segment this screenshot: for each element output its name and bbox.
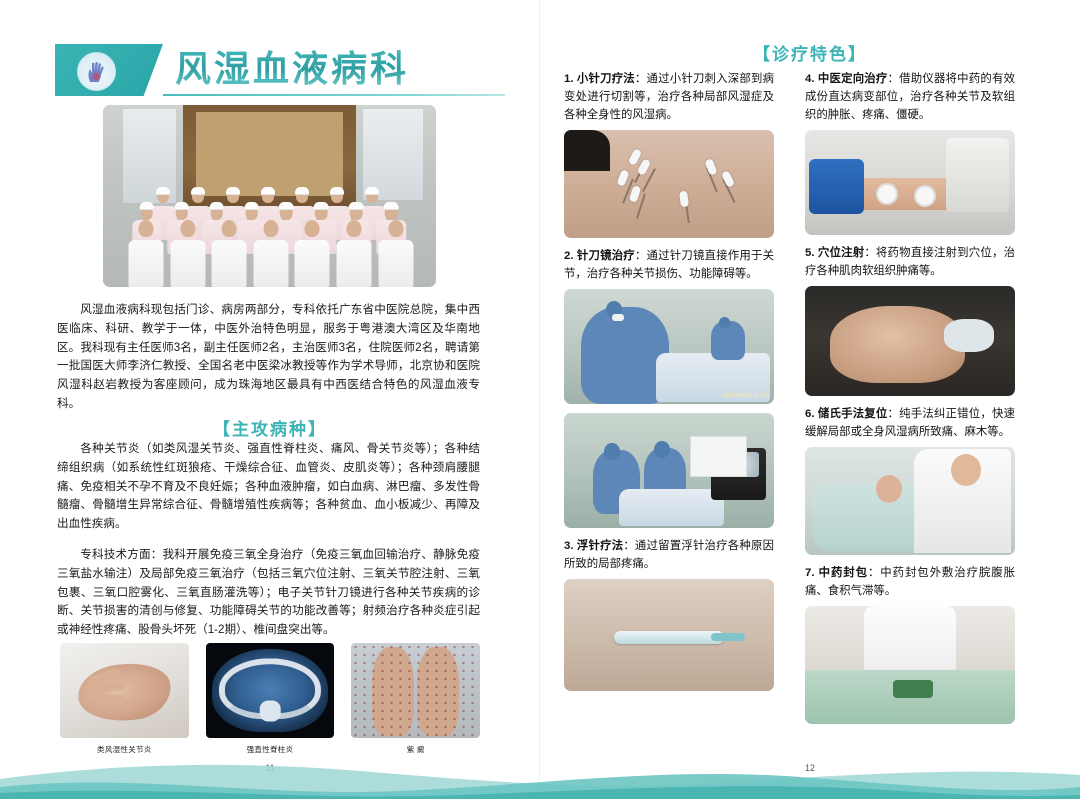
left-page: 风湿血液病科 风湿血液病科现包括门诊、病房两部分，专科依托广东省中医院总院，集中… [0,0,540,799]
nurse-cap [156,187,170,194]
staff-head [138,220,153,238]
intro-text-block: 风湿血液病科现包括门诊、病房两部分，专科依托广东省中医院总院，集中西医临床、科研… [57,301,480,414]
wave-svg [0,757,1080,799]
staff-figure [130,211,163,287]
floating-needle-device [614,631,723,644]
case-caption-purpura: 紫 癜 [351,744,480,755]
case-photo-row [60,643,480,738]
staff-figure [171,211,204,287]
case-photo-ra [60,643,189,738]
herbal-pack [893,680,933,698]
staff-coat [170,240,205,287]
feature-item-4: 4. 中医定向治疗：借助仪器将中药的有效成份直达病变部位，治疗各种关节及软组织的… [805,70,1015,235]
sacrum-shape [260,701,281,722]
photo-shadow-corner [564,130,610,171]
nurse-cap [279,202,294,209]
needle-tip [711,633,745,641]
feature-5-number: 5. [805,247,815,259]
right-page: 【诊疗特色】 1. 小针刀疗法：通过小针刀刺入深部到病变处进行切割等，治疗各种局… [540,0,1080,799]
staff-figure [338,211,371,287]
nurse-cap [226,187,240,194]
hand-emblem-icon [86,60,108,84]
feature-6-colon: ： [888,408,900,420]
photo-row-front [103,211,436,287]
page-gutter [539,0,540,799]
feature-item-3: 3. 浮针疗法：通过留置浮针治疗各种原因所致的局部疼痛。 [564,537,774,691]
department-header: 风湿血液病科 [55,44,505,102]
tech-paragraph: 专科技术方面：我科开展免疫三氧全身治疗（免疫三氧血回输治疗、静脉免疫三氧盐水输注… [57,546,480,640]
feature-6-text: 6. 储氏手法复位：纯手法纠正错位，快速缓解局部或全身风湿病所致痛、麻木等。 [805,405,1015,441]
blue-cuff [809,159,864,214]
feature-3-number: 3. [564,540,574,552]
staff-coat [337,240,372,287]
staff-coat [212,240,247,287]
patient-back [830,306,964,383]
disease-paragraph: 各种关节炎（如类风湿关节炎、强直性脊柱炎、痛风、骨关节炎等）；各种结缔组织病（如… [57,440,480,534]
therapy-device [946,138,1009,212]
nurse-figure [864,606,956,674]
feature-7-text: 7. 中药封包：中药封包外敷治疗脘腹胀痛、食积气滞等。 [805,564,1015,600]
nurse-cap [314,202,329,209]
staff-coat [128,240,163,287]
nurse-cap [365,187,379,194]
case-caption-as: 强直性脊柱炎 [206,744,335,755]
feature-6-photo [805,447,1015,555]
intro-paragraph: 风湿血液病科现包括门诊、病房两部分，专科依托广东省中医院总院，集中西医临床、科研… [57,301,480,414]
staff-coat [295,240,330,287]
feature-item-2: 2. 针刀镜治疗：通过针刀镜直接作用于关节，治疗各种关节损伤、功能障碍等。 20… [564,247,774,528]
staff-head [222,220,237,238]
staff-head [388,220,403,238]
feature-3-photo [564,579,774,691]
feature-3-text: 3. 浮针疗法：通过留置浮针治疗各种原因所致的局部疼痛。 [564,537,774,573]
department-badge [55,44,163,96]
case-caption-ra: 类风湿性关节炎 [60,744,189,755]
nurse-cap [330,187,344,194]
feature-4-term: 中医定向治疗 [818,73,888,85]
feature-5-text: 5. 穴位注射：将药物直接注射到穴位，治疗各种肌肉软组织肿痛等。 [805,244,1015,280]
feature-7-photo [805,606,1015,724]
feature-item-7: 7. 中药封包：中药封包外敷治疗脘腹胀痛、食积气滞等。 [805,564,1015,724]
nurse-cap [209,202,224,209]
case-caption-row: 类风湿性关节炎 强直性脊柱炎 紫 癜 [60,744,480,755]
feature-1-term: 小针刀疗法 [577,73,635,85]
feature-6-term: 储氏手法复位 [818,408,888,420]
staff-figure [379,211,412,287]
nurse-cap [261,187,275,194]
feature-1-colon: ： [635,73,647,85]
case-photo-as-ct [206,643,335,738]
case-photo-purpura [351,643,480,738]
photo-wood-relief [196,112,343,196]
feature-2-number: 2. [564,250,574,262]
feature-5-photo [805,286,1015,396]
staff-figure [296,211,329,287]
staff-figure [255,211,288,287]
clinician-hand [944,319,994,352]
technology-text-block: 专科技术方面：我科开展免疫三氧全身治疗（免疫三氧血回输治疗、静脉免疫三氧盐水输注… [57,546,480,640]
feature-1-photo [564,130,774,238]
staff-head [263,220,278,238]
nurse-cap [295,187,309,194]
purpura-spots [351,643,480,738]
nurse-cap [384,202,399,209]
feature-7-colon: ： [868,567,880,579]
staff-coat [378,240,413,287]
nurse-cap [244,202,259,209]
diseases-text-block: 各种关节炎（如类风湿关节炎、强直性脊柱炎、痛风、骨关节炎等）；各种结缔组织病（如… [57,440,480,534]
feature-4-colon: ： [888,73,900,85]
feature-4-number: 4. [805,73,815,85]
feature-4-photo [805,130,1015,235]
feature-1-number: 1. [564,73,574,85]
feature-2-photo-a: 2013/04/28 11:07 [564,289,774,404]
photo-timestamp: 2013/04/28 11:07 [723,393,768,399]
department-title: 风湿血液病科 [175,40,409,92]
staff-coat [253,240,288,287]
badge-circle [77,52,116,91]
doctor-head [951,454,981,486]
feature-4-text: 4. 中医定向治疗：借助仪器将中药的有效成份直达病变部位，治疗各种关节及软组织的… [805,70,1015,124]
feature-5-colon: ： [864,247,876,259]
feature-item-1: 1. 小针刀疗法：通过小针刀刺入深部到病变处进行切割等，治疗各种局部风湿症及各种… [564,70,774,238]
feature-6-number: 6. [805,408,815,420]
nurse-cap [349,202,364,209]
nurse-cap [191,187,205,194]
feature-7-number: 7. [805,567,815,579]
feature-2-text: 2. 针刀镜治疗：通过针刀镜直接作用于关节，治疗各种关节损伤、功能障碍等。 [564,247,774,283]
nurse-cap [139,202,154,209]
staff-group-photo [103,105,436,287]
feature-item-6: 6. 储氏手法复位：纯手法纠正错位，快速缓解局部或全身风湿病所致痛、麻木等。 [805,405,1015,555]
features-column-left: 1. 小针刀疗法：通过小针刀刺入深部到病变处进行切割等，治疗各种局部风湿症及各种… [564,70,774,700]
feature-5-term: 穴位注射 [818,247,864,259]
feature-3-colon: ： [623,540,635,552]
feature-7-term: 中药封包 [819,567,868,579]
features-column-right: 4. 中医定向治疗：借助仪器将中药的有效成份直达病变部位，治疗各种关节及软组织的… [805,70,1015,733]
feature-2-colon: ： [635,250,647,262]
footer-wave-decoration [0,757,1080,799]
brochure-spread: 风湿血液病科 风湿血液病科现包括门诊、病房两部分，专科依托广东省中医院总院，集中… [0,0,1080,799]
nurse-cap [174,202,189,209]
title-underline [163,94,505,96]
main-diseases-heading: 【主攻病种】 [0,415,540,440]
feature-1-text: 1. 小针刀疗法：通过小针刀刺入深部到病变处进行切割等，治疗各种局部风湿症及各种… [564,70,774,124]
feature-2-term: 针刀镜治疗 [577,250,635,262]
feature-2-photo-b [564,413,774,528]
staff-figure [213,211,246,287]
staff-head [305,220,320,238]
feature-item-5: 5. 穴位注射：将药物直接注射到穴位，治疗各种肌肉软组织肿痛等。 [805,244,1015,396]
staff-head [180,220,195,238]
feature-3-term: 浮针疗法 [577,540,623,552]
staff-head [347,220,362,238]
treatment-features-heading: 【诊疗特色】 [540,40,1080,65]
